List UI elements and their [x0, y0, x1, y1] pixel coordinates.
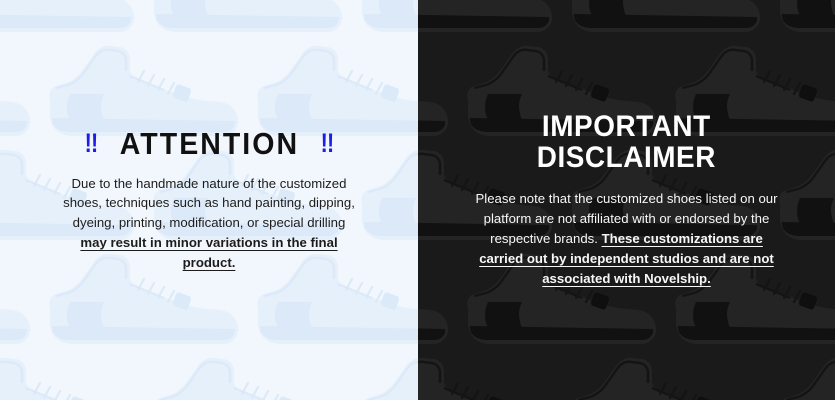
disclaimer-heading: IMPORTANT DISCLAIMER [530, 112, 723, 174]
disclaimer-content: IMPORTANT DISCLAIMER Please note that th… [418, 0, 835, 400]
attention-body-emphasis: may result in minor variations in the fi… [80, 235, 337, 270]
disclaimer-body: Please note that the customized shoes li… [468, 189, 786, 288]
attention-body-normal: Due to the handmade nature of the custom… [63, 176, 355, 231]
disclaimer-banner: !! ATTENTION !! Due to the handmade natu… [0, 0, 835, 400]
attention-content: !! ATTENTION !! Due to the handmade natu… [0, 0, 418, 400]
attention-heading-text: ATTENTION [119, 128, 298, 159]
attention-body: Due to the handmade nature of the custom… [59, 174, 359, 273]
disclaimer-heading-line1: IMPORTANT [537, 112, 716, 143]
disclaimer-panel: IMPORTANT DISCLAIMER Please note that th… [418, 0, 835, 400]
exclamation-mark-left: !! [84, 130, 97, 157]
attention-heading: !! ATTENTION !! [83, 128, 336, 159]
attention-panel: !! ATTENTION !! Due to the handmade natu… [0, 0, 418, 400]
exclamation-mark-right: !! [321, 130, 334, 157]
disclaimer-heading-line2: DISCLAIMER [537, 143, 716, 174]
